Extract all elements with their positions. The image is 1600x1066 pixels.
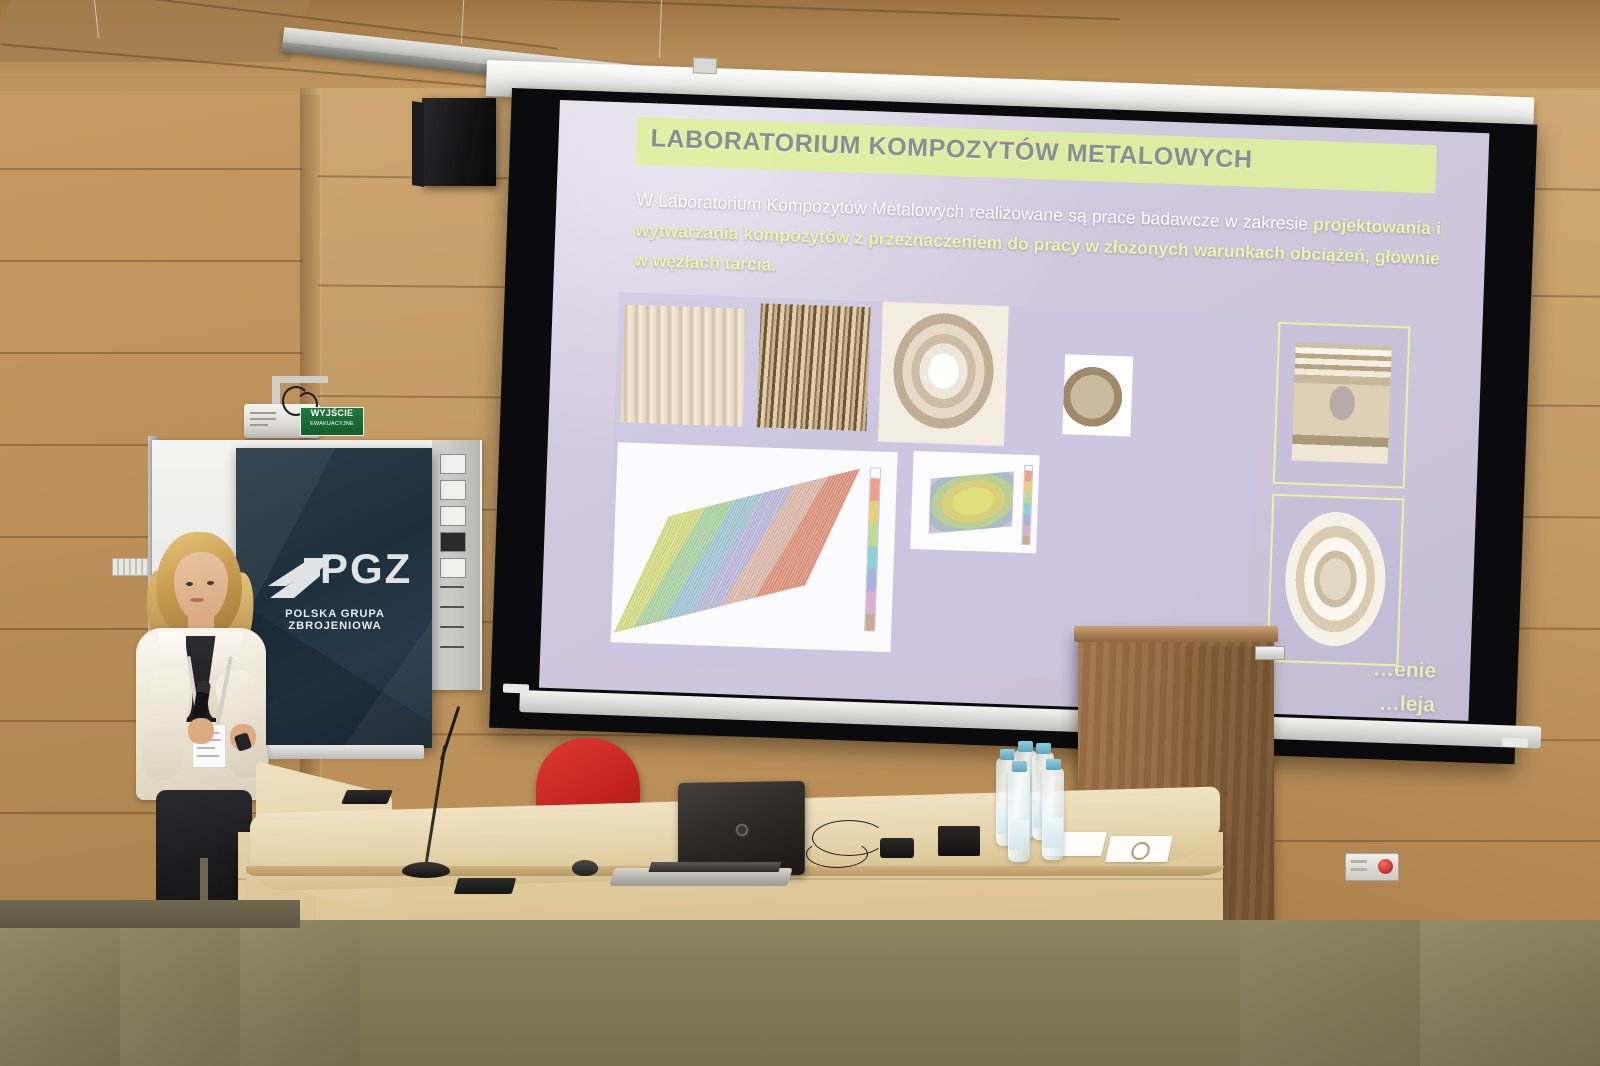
podium-top-surface xyxy=(1074,626,1278,642)
paper-sheet[interactable] xyxy=(1105,836,1173,862)
pen-black-icon[interactable] xyxy=(440,586,464,600)
slide-body-text: W Laboratorium Kompozytów Metalowych rea… xyxy=(634,185,1442,304)
desk-microphone-base[interactable] xyxy=(402,862,450,878)
conference-room-scene: LABORATORIUM KOMPOZYTÓW METALOWYCH W Lab… xyxy=(0,0,1600,1066)
projected-slide: LABORATORIUM KOMPOZYTÓW METALOWYCH W Lab… xyxy=(539,100,1489,721)
print-icon[interactable] xyxy=(440,480,466,500)
eye-left xyxy=(186,582,193,586)
pen-green-icon[interactable] xyxy=(440,646,464,660)
badge-text-line xyxy=(197,747,215,749)
badge-text-line xyxy=(197,755,219,757)
mouth xyxy=(190,598,204,602)
bottle-cap xyxy=(1036,743,1051,754)
projector-vent xyxy=(250,418,276,420)
ceiling-panel xyxy=(0,0,310,62)
bottle-cap xyxy=(1018,741,1033,752)
outlet-slot xyxy=(1351,868,1367,871)
card-holder[interactable] xyxy=(938,826,980,856)
projector-vent xyxy=(250,412,276,414)
surface-topography-3d-plot xyxy=(611,442,898,652)
bottle-cap xyxy=(1046,759,1061,770)
piston-body xyxy=(1292,342,1392,463)
paper-circle-mark xyxy=(1130,842,1152,860)
podium-control-plate[interactable] xyxy=(1255,646,1285,660)
bottle-cap xyxy=(1012,761,1027,772)
carpet-tile xyxy=(1240,920,1420,1066)
screen-hook-right xyxy=(1502,738,1528,748)
exit-sign-sub-text: EWAKUACYJNE xyxy=(303,422,361,428)
emergency-exit-sign: WYJŚCIE EWAKUACYJNE xyxy=(300,407,364,436)
screen-hook-left xyxy=(503,684,529,694)
pgz-wordmark: PGZ xyxy=(320,548,412,590)
power-adapter xyxy=(880,838,914,858)
page-icon[interactable] xyxy=(440,506,466,526)
power-cable xyxy=(806,840,868,868)
exit-sign-main-text: WYJŚCIE xyxy=(303,409,361,418)
bottle-label xyxy=(1009,820,1029,850)
water-bottle[interactable] xyxy=(1008,770,1030,862)
bottle-cap xyxy=(1000,749,1015,760)
wall-outlet-panel[interactable] xyxy=(1345,853,1399,881)
carpet-tile xyxy=(1420,920,1600,1066)
bushing-wear-photo xyxy=(1266,494,1404,667)
3d-surface-mesh xyxy=(614,468,861,632)
carpet-tile xyxy=(240,920,360,1066)
desk-cable-port[interactable] xyxy=(341,790,393,804)
emergency-button-icon[interactable] xyxy=(1378,859,1393,874)
wall-panel-line xyxy=(1258,840,1600,842)
slide-footer-line-2: …leja xyxy=(1378,692,1435,718)
carpet-tile xyxy=(120,920,240,1066)
carpet-tile xyxy=(0,920,120,1066)
water-bottle[interactable] xyxy=(1042,768,1064,860)
fibre-microstructure-image xyxy=(621,304,747,426)
colorbar xyxy=(1021,465,1033,545)
eye-right xyxy=(207,581,214,585)
desk-cable-port[interactable] xyxy=(454,878,517,894)
projector-vent xyxy=(250,424,268,426)
pen-red-icon[interactable] xyxy=(440,626,464,640)
bearing-ring-photo xyxy=(878,302,1009,446)
bottle-label xyxy=(1043,818,1063,848)
wall-panel-line xyxy=(0,168,302,170)
pen-blue-icon[interactable] xyxy=(440,606,464,620)
screen-bracket xyxy=(693,57,718,74)
dell-laptop-lid[interactable] xyxy=(678,781,805,875)
rough-surface-micrograph-image xyxy=(756,303,870,431)
computer-mouse[interactable] xyxy=(572,860,598,876)
dell-logo-icon xyxy=(734,822,750,838)
engine-piston-photo xyxy=(1273,322,1411,489)
projector-mount-post xyxy=(272,376,280,406)
eraser-icon[interactable] xyxy=(440,532,466,552)
surface-map-2d-plot xyxy=(910,451,1039,553)
piston-pin-hole xyxy=(1330,386,1356,420)
surface-roughness-texture xyxy=(614,468,861,632)
colorbar xyxy=(864,467,881,631)
speaker-side-panel xyxy=(412,101,424,187)
composite-chip-sample-image xyxy=(1062,354,1133,436)
zoom-icon[interactable] xyxy=(440,558,466,578)
hand-left xyxy=(188,718,214,744)
laptop-keyboard[interactable] xyxy=(649,862,782,872)
wall-panel-line xyxy=(0,352,302,354)
whiteboard-toolbar[interactable] xyxy=(432,440,480,690)
2d-surface-map xyxy=(928,471,1013,533)
floor-baseboard xyxy=(0,900,300,928)
copy-icon[interactable] xyxy=(440,454,466,474)
wall-panel-line xyxy=(0,260,302,262)
outlet-slot xyxy=(1351,860,1367,863)
wall-speaker xyxy=(422,98,496,186)
projector-mount-arm xyxy=(272,376,328,383)
bushing-body xyxy=(1283,510,1388,647)
slide-footer-line-1: …enie xyxy=(1373,657,1437,683)
